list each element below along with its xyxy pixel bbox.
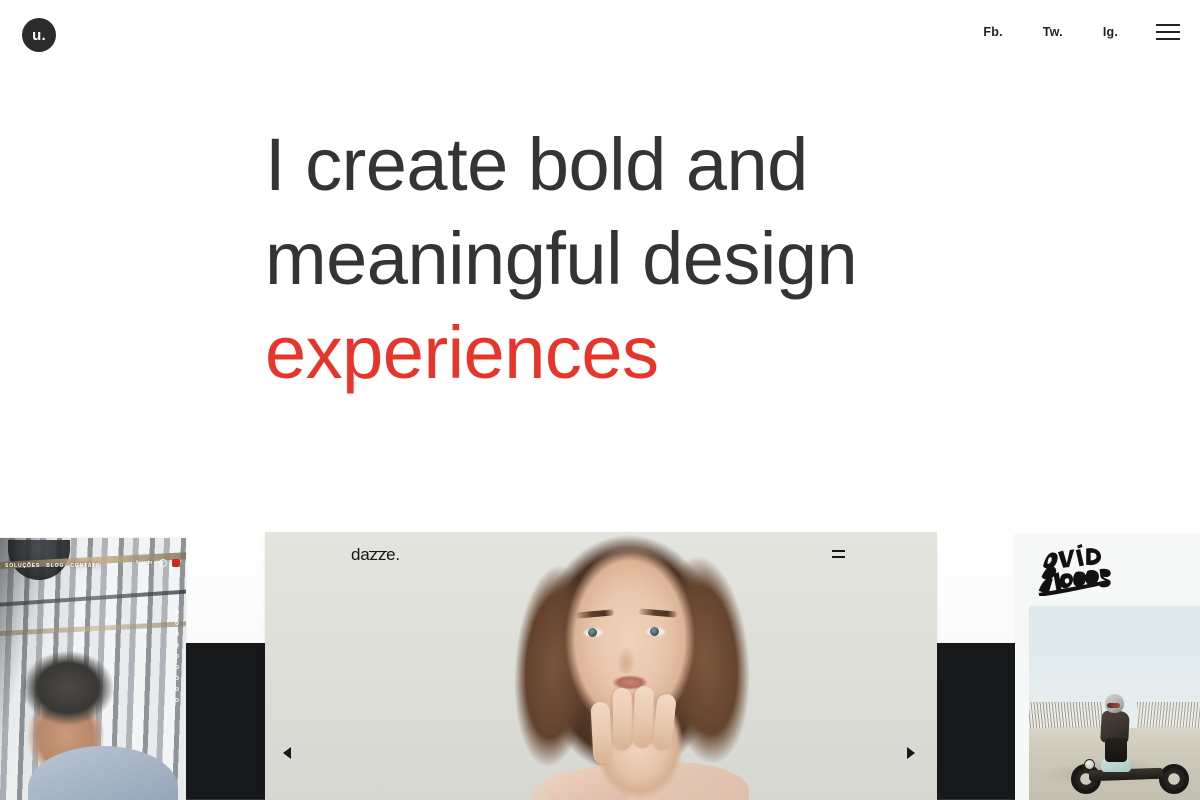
hamburger-bar-2 <box>1156 31 1180 33</box>
nav-facebook[interactable]: Fb. <box>983 24 1022 40</box>
rider-legs <box>1105 738 1127 762</box>
page-root: u. Fb. Tw. Ig. I create bold and meaning… <box>0 0 1200 800</box>
helmet-visor <box>1107 703 1120 708</box>
nose <box>615 636 637 674</box>
carousel-next-arrow-icon[interactable] <box>907 747 915 759</box>
left-nav-contato[interactable]: CONTATO <box>70 563 100 569</box>
carousel-prev-arrow-icon[interactable] <box>283 747 291 759</box>
dazze-logo-strike: zz <box>370 545 387 565</box>
woman-portrait-photo <box>265 532 937 800</box>
linkedin-icon[interactable]: in <box>146 559 154 567</box>
brand-logo-text: u. <box>32 28 46 43</box>
nav-instagram[interactable]: Ig. <box>1083 24 1138 40</box>
center-card-menu-icon[interactable] <box>832 550 845 558</box>
left-nav-solucoes[interactable]: SOLUÇÕES <box>5 563 40 569</box>
dot-indicator[interactable] <box>175 687 179 691</box>
menu-bar-1 <box>832 550 845 552</box>
hero-headline-accent: experiences <box>265 306 1165 400</box>
portfolio-showcase-strip: SOLUÇÕES BLOG CONTATO f in <box>0 505 1200 800</box>
left-card-dot-nav[interactable] <box>175 610 179 702</box>
instagram-icon[interactable] <box>159 559 167 567</box>
dot-indicator[interactable] <box>175 698 179 702</box>
dark-panel-left <box>186 643 265 800</box>
hero-headline-line-2: meaningful design <box>265 212 1165 306</box>
dazze-logo-pre: da <box>351 545 370 564</box>
portfolio-card-left[interactable]: SOLUÇÕES BLOG CONTATO f in <box>0 538 186 800</box>
dark-panel-right <box>937 643 1015 800</box>
dot-indicator[interactable] <box>175 632 179 636</box>
david-haase-logo[interactable] <box>1037 544 1119 596</box>
hero-section: I create bold and meaningful design expe… <box>265 118 1165 400</box>
site-header: u. Fb. Tw. Ig. <box>0 0 1200 70</box>
portfolio-card-center[interactable]: dazze. <box>265 532 937 800</box>
hamburger-bar-1 <box>1156 24 1180 26</box>
finger <box>590 702 612 765</box>
dazze-logo[interactable]: dazze. <box>351 545 400 565</box>
dazze-logo-post: e. <box>386 545 400 564</box>
left-card-social: f in <box>133 559 180 567</box>
portfolio-card-right[interactable] <box>1015 534 1200 800</box>
hamburger-bar-3 <box>1156 38 1180 40</box>
menu-bar-2 <box>832 556 845 558</box>
brand-logo[interactable]: u. <box>22 18 56 52</box>
finger <box>633 686 654 749</box>
dot-indicator[interactable] <box>175 610 179 614</box>
motorcycle-beach-photo <box>1029 606 1200 800</box>
dot-indicator[interactable] <box>175 665 179 669</box>
motorcycle-rider <box>1097 694 1137 760</box>
youtube-icon[interactable] <box>172 559 180 567</box>
hamburger-menu-icon[interactable] <box>1156 24 1180 40</box>
iris-left <box>588 628 597 637</box>
nav-twitter[interactable]: Tw. <box>1023 24 1083 40</box>
iris-right <box>650 627 659 636</box>
hero-headline-line-1: I create bold and <box>265 118 1165 212</box>
finger <box>612 688 632 750</box>
dot-indicator[interactable] <box>175 643 179 647</box>
header-nav: Fb. Tw. Ig. <box>983 24 1180 40</box>
left-nav-blog[interactable]: BLOG <box>46 563 64 569</box>
dot-indicator[interactable] <box>175 654 179 658</box>
rear-wheel <box>1159 764 1189 794</box>
facebook-icon[interactable]: f <box>133 559 141 567</box>
dot-indicator[interactable] <box>175 621 179 625</box>
headlight <box>1084 759 1095 770</box>
dot-indicator[interactable] <box>175 676 179 680</box>
